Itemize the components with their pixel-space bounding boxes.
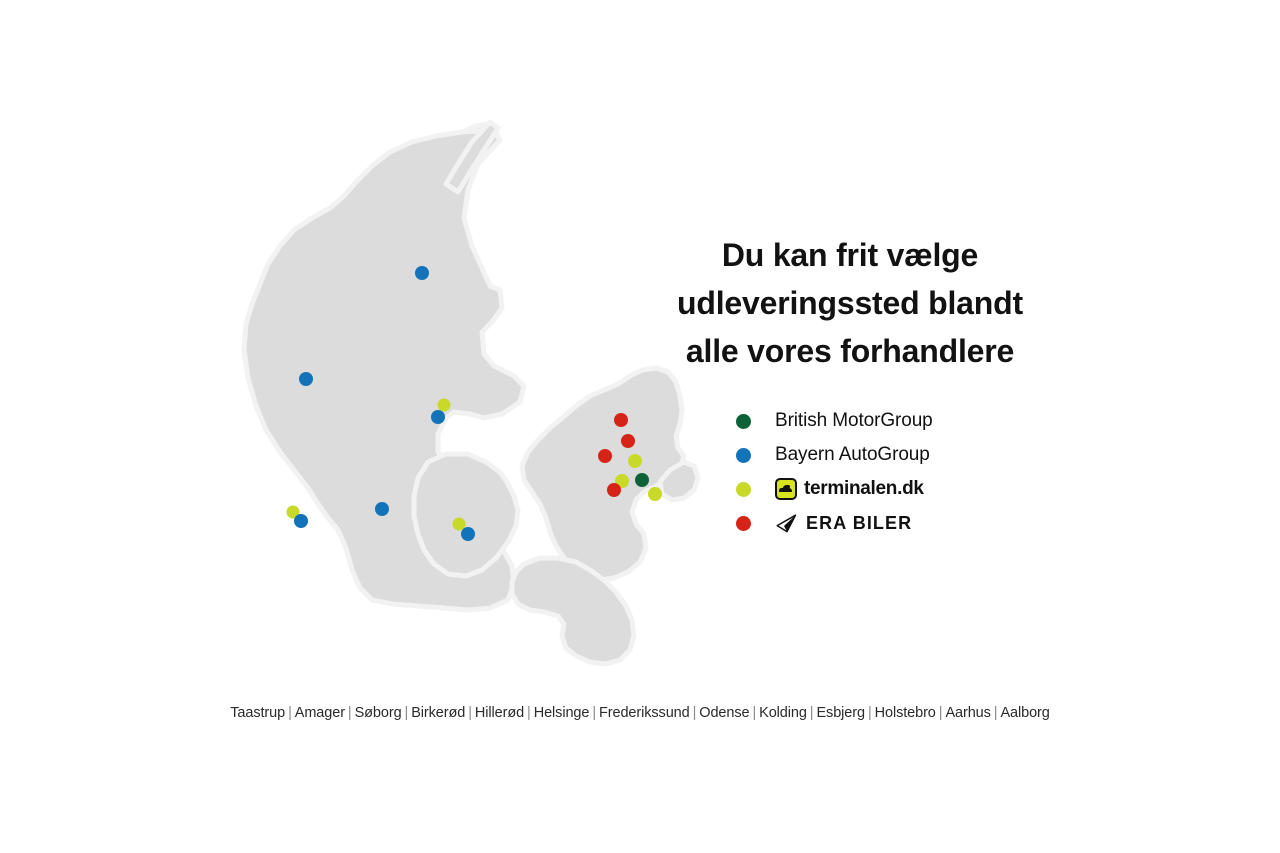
city-name-kolding: Kolding [759, 705, 807, 721]
legend-item-bayern-autogroup[interactable]: Bayern AutoGroup [736, 438, 1066, 472]
legend-swatch-blue-icon [736, 448, 751, 463]
map-dot-hiller-d[interactable] [614, 413, 628, 427]
map-dot-frederikssund[interactable] [598, 449, 612, 463]
city-name-s-borg: Søborg [355, 705, 402, 721]
map-dot-aalborg[interactable] [415, 266, 429, 280]
city-name-amager: Amager [295, 705, 345, 721]
era-biler-brand-lockup: ERA BILER [775, 513, 912, 534]
city-name-birker-d: Birkerød [411, 705, 465, 721]
terminalen-logo-icon [775, 478, 797, 500]
legend-item-british-motorgroup[interactable]: British MotorGroup [736, 404, 1066, 438]
page-headline: Du kan frit vælge udleveringssted blandt… [620, 231, 1080, 375]
legend-swatch-green-icon [736, 414, 751, 429]
dealer-map-page: Du kan frit vælge udleveringssted blandt… [0, 0, 1280, 853]
city-separator: | [524, 705, 534, 721]
city-list-strip: Taastrup|Amager|Søborg|Birkerød|Hillerød… [0, 705, 1280, 721]
map-dot-taastrup[interactable] [607, 483, 621, 497]
city-name-helsinge: Helsinge [534, 705, 590, 721]
city-separator: | [865, 705, 875, 721]
map-dot-odense[interactable] [461, 527, 475, 541]
city-separator: | [936, 705, 946, 721]
legend-label-bayern-autogroup: Bayern AutoGroup [775, 444, 930, 466]
legend-label-terminalen: terminalen.dk [804, 478, 924, 500]
city-name-aalborg: Aalborg [1000, 705, 1049, 721]
headline-line-2: udleveringssted blandt [620, 279, 1080, 327]
city-separator: | [465, 705, 475, 721]
city-name-esbjerg: Esbjerg [816, 705, 864, 721]
map-dot-birker-d[interactable] [621, 434, 635, 448]
map-dot-amager[interactable] [648, 487, 662, 501]
city-separator: | [589, 705, 599, 721]
era-biler-logo-icon [775, 514, 798, 533]
denmark-map [232, 118, 702, 678]
map-dot-esbjerg[interactable] [294, 514, 308, 528]
map-dot-aarhus[interactable] [431, 410, 445, 424]
terminalen-brand-lockup: terminalen.dk [775, 478, 924, 500]
map-dot-kolding[interactable] [375, 502, 389, 516]
legend-item-era-biler[interactable]: ERA BILER [736, 506, 1066, 540]
city-name-holstebro: Holstebro [875, 705, 936, 721]
legend-item-terminalen[interactable]: terminalen.dk [736, 472, 1066, 506]
legend-swatch-red-icon [736, 516, 751, 531]
city-name-odense: Odense [699, 705, 749, 721]
map-dot-s-borg[interactable] [628, 454, 642, 468]
headline-line-1: Du kan frit vælge [620, 231, 1080, 279]
headline-line-3: alle vores forhandlere [620, 327, 1080, 375]
city-separator: | [345, 705, 355, 721]
city-separator: | [690, 705, 700, 721]
city-name-hiller-d: Hillerød [475, 705, 524, 721]
dealer-legend: British MotorGroup Bayern AutoGroup term… [736, 404, 1066, 540]
map-dot-amager[interactable] [635, 473, 649, 487]
legend-label-british-motorgroup: British MotorGroup [775, 410, 933, 432]
legend-swatch-yellow-icon [736, 482, 751, 497]
city-name-taastrup: Taastrup [230, 705, 285, 721]
map-dot-holstebro[interactable] [299, 372, 313, 386]
city-name-aarhus: Aarhus [945, 705, 990, 721]
city-separator: | [285, 705, 295, 721]
city-name-frederikssund: Frederikssund [599, 705, 690, 721]
city-separator: | [749, 705, 759, 721]
map-dot-layer [232, 118, 702, 678]
legend-label-era-biler: ERA BILER [806, 513, 912, 534]
city-separator: | [402, 705, 412, 721]
